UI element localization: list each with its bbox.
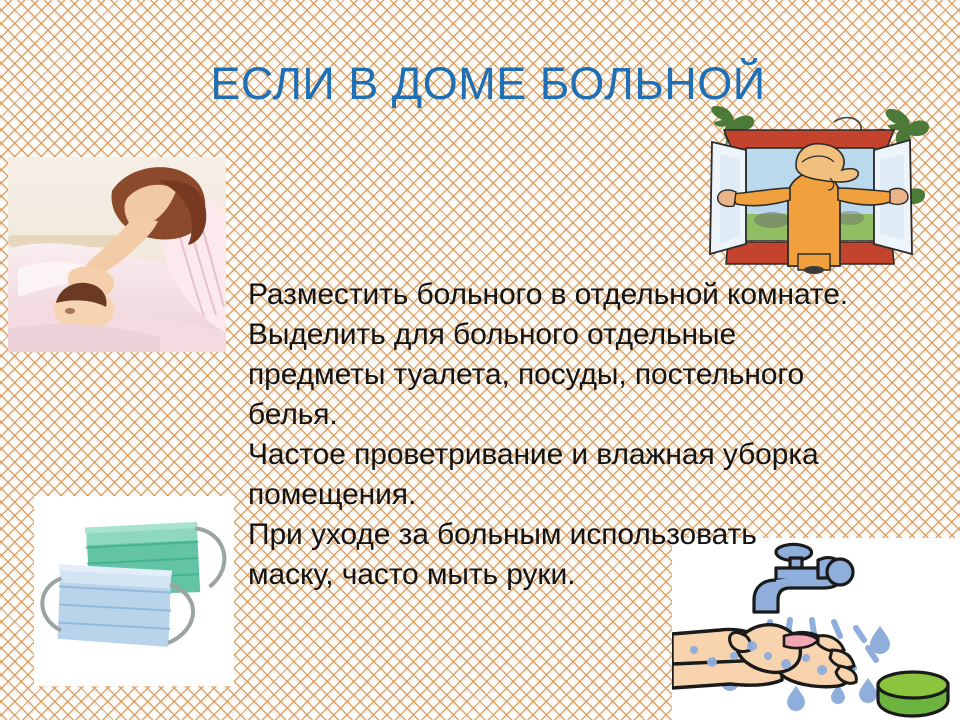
- photo-surgical-masks: [34, 496, 234, 686]
- body-line-7: При уходе за больным использовать: [248, 515, 938, 555]
- masks-photo-artwork: [34, 496, 234, 686]
- body-line-8: маску, часто мыть руки.: [248, 555, 938, 595]
- photo-mother-caring-for-sick-child: [8, 157, 226, 352]
- body-line-1: Разместить больного в отдельной комнате.: [248, 275, 938, 315]
- body-line-6: помещения.: [248, 475, 938, 515]
- soap-bar-icon: [878, 672, 948, 716]
- body-line-2: Выделить для больного отдельные: [248, 315, 938, 355]
- slide-title: ЕСЛИ В ДОМЕ БОЛЬНОЙ: [168, 58, 808, 110]
- body-line-5: Частое проветривание и влажная уборка: [248, 435, 938, 475]
- body-line-3: предметы туалета, посуды, постельного: [248, 355, 938, 395]
- slide-body-text: Разместить больного в отдельной комнате.…: [248, 275, 938, 595]
- body-line-4: белья.: [248, 395, 938, 435]
- window-clipart-artwork: [680, 104, 948, 274]
- care-photo-artwork: [8, 157, 226, 352]
- clipart-person-opening-window: [680, 104, 948, 274]
- presentation-slide: ЕСЛИ В ДОМЕ БОЛЬНОЙ: [0, 0, 960, 720]
